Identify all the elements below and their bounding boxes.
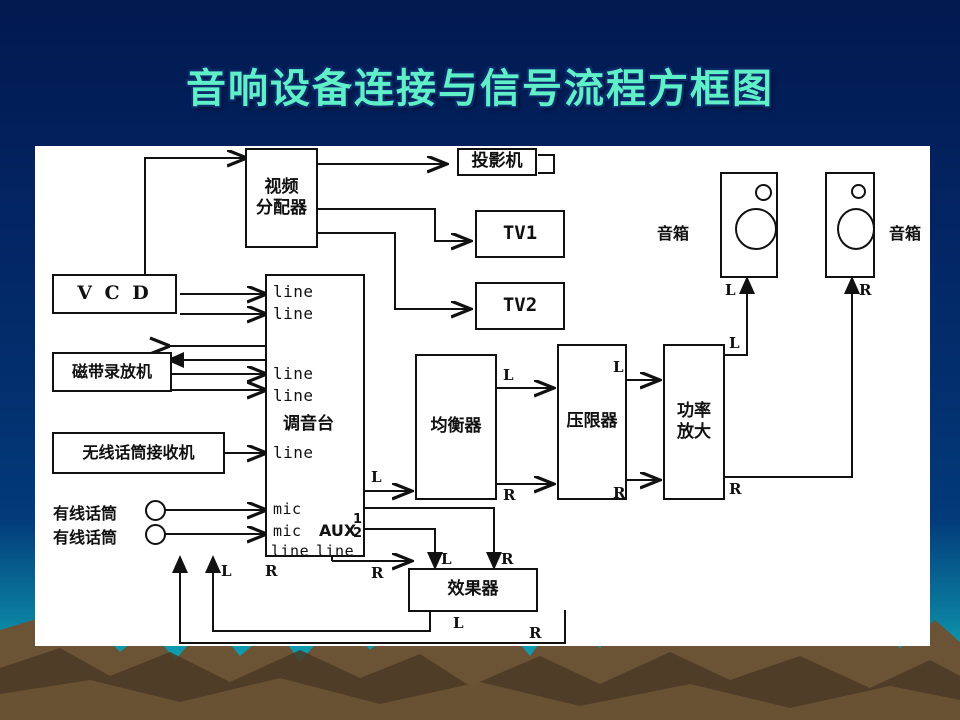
wired-mic-2-icon bbox=[145, 524, 166, 545]
speaker-left-channel-label: L bbox=[725, 281, 736, 299]
eq-out-R-label: R bbox=[503, 486, 515, 504]
projector-label: 投影机 bbox=[472, 151, 523, 172]
mixer-input-2: line bbox=[273, 304, 314, 323]
tv2-label: TV2 bbox=[503, 294, 537, 318]
mixer-input-5: line bbox=[273, 443, 314, 462]
eq-out-L-label: L bbox=[503, 366, 514, 384]
speaker-left-woofer-icon bbox=[735, 208, 777, 250]
fx-out-L-label: L bbox=[453, 614, 464, 632]
block-effects-processor[interactable]: 效果器 bbox=[408, 568, 538, 612]
mixer-out-L-label: L bbox=[371, 468, 382, 486]
block-tv2[interactable]: TV2 bbox=[475, 282, 565, 330]
amp-out-R-label: R bbox=[729, 480, 741, 498]
equalizer-label: 均衡器 bbox=[431, 416, 482, 437]
audio-signal-flow-diagram: 视频 分配器 投影机 TV1 TV2 V C D 磁带录放机 bbox=[35, 146, 930, 646]
tv1-label: TV1 bbox=[503, 222, 537, 246]
mixer-return-left: line bbox=[271, 542, 309, 560]
fx-in-L-label: L bbox=[441, 550, 452, 568]
vcd-label: V C D bbox=[77, 282, 152, 306]
wired-mic-1-icon bbox=[145, 500, 166, 521]
tape-deck-label: 磁带录放机 bbox=[72, 362, 152, 382]
power-amp-label-line1: 功率 bbox=[677, 401, 711, 422]
mixer-label: 调音台 bbox=[283, 409, 334, 434]
mixer-aux-1-label: 1 bbox=[353, 512, 362, 527]
speaker-right-channel-label: R bbox=[859, 281, 871, 299]
mixer-input-1: line bbox=[273, 282, 314, 301]
limiter-label: 压限器 bbox=[567, 411, 618, 432]
power-amp-label-line2: 放大 bbox=[677, 422, 711, 443]
page-title: 音响设备连接与信号流程方框图 bbox=[0, 56, 960, 114]
block-tape-deck[interactable]: 磁带录放机 bbox=[52, 352, 172, 392]
fx-out-R-label: R bbox=[529, 624, 541, 642]
lim-out-L-label: L bbox=[613, 358, 624, 376]
mixer-input-3: line bbox=[273, 364, 314, 383]
presentation-slide: 音响设备连接与信号流程方框图 bbox=[0, 0, 960, 720]
block-equalizer[interactable]: 均衡器 bbox=[415, 354, 497, 500]
speaker-left-caption: 音箱 bbox=[657, 220, 689, 244]
speaker-right-caption: 音箱 bbox=[889, 220, 921, 244]
mixer-aux-2-label: 2 bbox=[353, 526, 362, 541]
mixer-ret-R-label: R bbox=[265, 562, 277, 580]
mixer-ret-L-label: L bbox=[221, 562, 232, 580]
lim-out-R-label: R bbox=[613, 484, 625, 502]
amp-out-L-label: L bbox=[729, 334, 740, 352]
video-distributor-label-line1: 视频 bbox=[265, 177, 299, 198]
video-distributor-label-line2: 分配器 bbox=[256, 198, 307, 219]
speaker-left-tweeter-icon bbox=[755, 184, 772, 201]
projector-lens-icon bbox=[538, 154, 555, 174]
fx-in-R-label: R bbox=[501, 550, 513, 568]
mixer-aux-label: AUX bbox=[319, 521, 356, 540]
speaker-right-tweeter-icon bbox=[851, 184, 866, 199]
block-projector[interactable]: 投影机 bbox=[457, 148, 537, 176]
block-video-distributor[interactable]: 视频 分配器 bbox=[245, 148, 318, 248]
block-power-amplifier[interactable]: 功率 放大 bbox=[663, 344, 725, 500]
mixer-input-mic-2: mic bbox=[273, 522, 302, 540]
wireless-mic-receiver-label: 无线话筒接收机 bbox=[82, 443, 194, 463]
mixer-input-mic-1: mic bbox=[273, 500, 302, 518]
block-wireless-mic-receiver[interactable]: 无线话筒接收机 bbox=[52, 432, 225, 474]
mixer-return-right: line bbox=[316, 542, 354, 560]
effects-label: 效果器 bbox=[448, 579, 499, 600]
mixer-out-R-label: R bbox=[371, 564, 383, 582]
wired-mic-2-label: 有线话筒 bbox=[53, 524, 117, 548]
mixer-input-4: line bbox=[273, 386, 314, 405]
block-tv1[interactable]: TV1 bbox=[475, 210, 565, 258]
wired-mic-1-label: 有线话筒 bbox=[53, 500, 117, 524]
block-vcd[interactable]: V C D bbox=[52, 274, 177, 314]
speaker-right-woofer-icon bbox=[837, 208, 875, 250]
diagram-panel: 视频 分配器 投影机 TV1 TV2 V C D 磁带录放机 bbox=[35, 146, 930, 646]
